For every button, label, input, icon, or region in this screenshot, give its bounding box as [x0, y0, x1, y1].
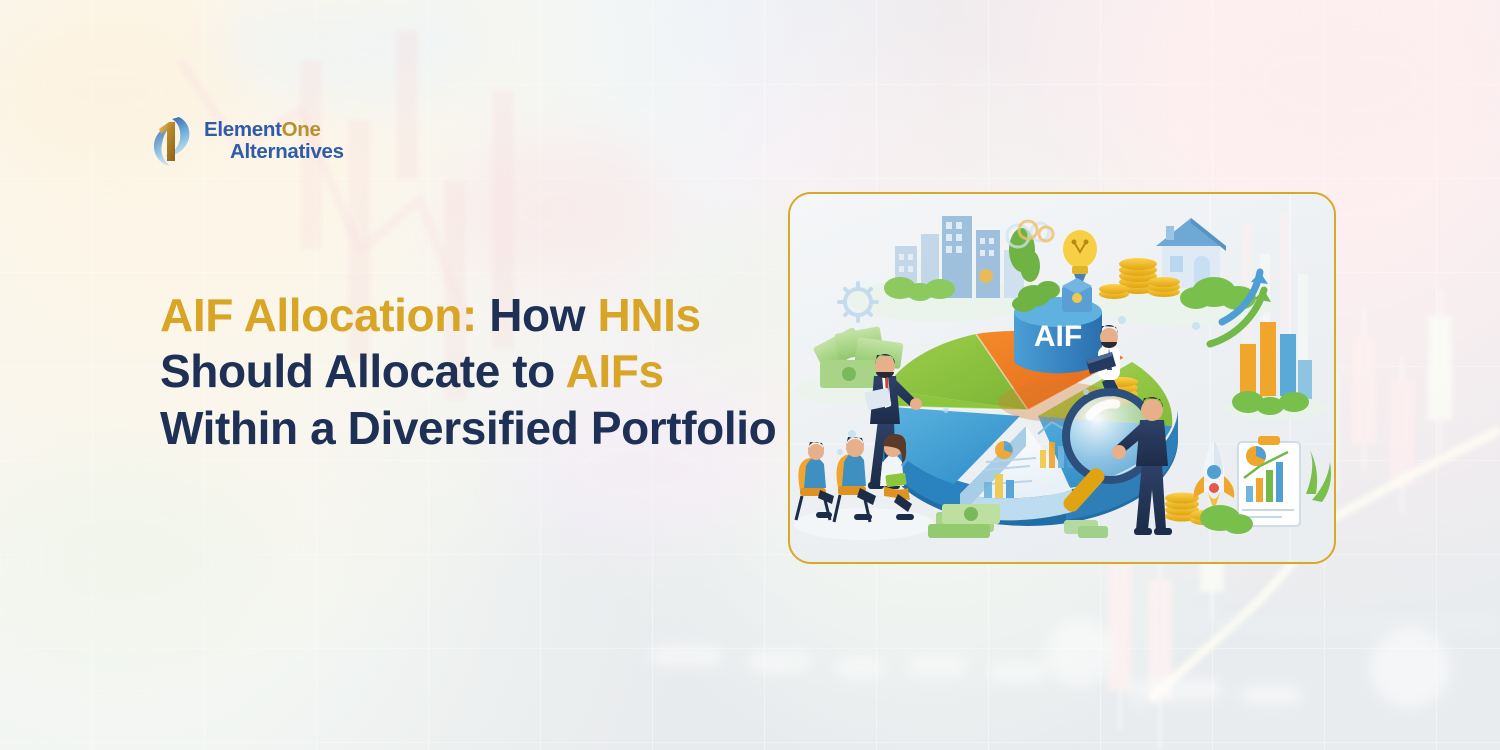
aif-pie-illustration: AIF — [790, 194, 1334, 562]
headline-seg-1: How — [477, 289, 598, 341]
logo-line-2: Alternatives — [204, 141, 344, 162]
headline-seg-3: Should Allocate to — [160, 345, 566, 397]
headline-seg-0: AIF Allocation: — [160, 289, 477, 341]
headline-seg-2: HNIs — [598, 289, 701, 341]
headline-seg-4: AIFs — [566, 345, 664, 397]
clipboard-report-right — [1238, 436, 1300, 526]
page-title: AIF Allocation: How HNIs Should Allocate… — [160, 287, 800, 457]
logo-element-text: Element — [204, 118, 282, 141]
logo-one-text: One — [282, 118, 321, 141]
brand-logo[interactable]: ElementOne Alternatives — [148, 113, 344, 168]
banner-root: ElementOne Alternatives AIF Allocation: … — [0, 0, 1500, 750]
illustration-card: AIF — [788, 192, 1336, 564]
aif-center-label: AIF — [1034, 320, 1082, 353]
logo-line-1: ElementOne — [204, 119, 344, 140]
elementone-swoosh-1-mark — [148, 113, 195, 168]
background-ghost-text — [640, 600, 1500, 720]
headline-seg-5: Within a Diversified Portfolio — [160, 402, 776, 454]
